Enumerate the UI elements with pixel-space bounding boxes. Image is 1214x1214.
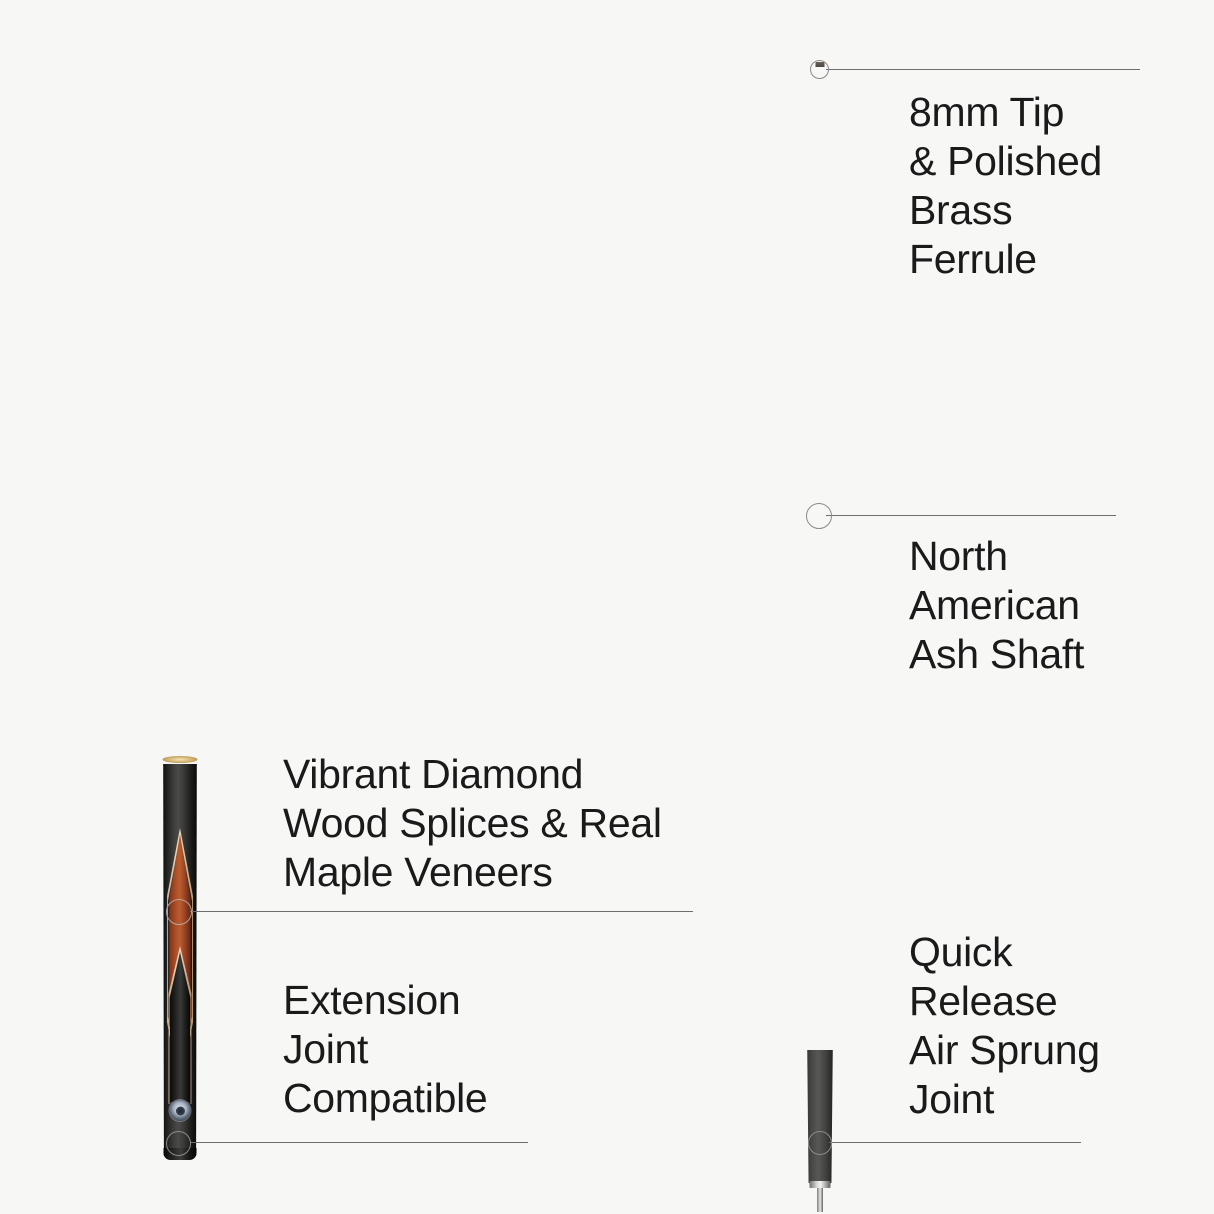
leader-line-extension-joint — [190, 1142, 528, 1143]
cue-joint-collar — [810, 1181, 831, 1188]
annotation-tip-ferrule: 8mm Tip & Polished Brass Ferrule — [909, 88, 1102, 284]
leader-line-quick-release-joint — [829, 1142, 1081, 1143]
product-infographic: 8mm Tip & Polished Brass Ferrule North A… — [0, 0, 1214, 1214]
marker-cue-shaft — [806, 503, 832, 529]
cue-butt-section — [150, 756, 210, 1156]
cue-shaft-section — [795, 62, 845, 1152]
cue-joint-pin — [817, 1188, 823, 1212]
leader-line-ash-shaft — [826, 515, 1116, 516]
leader-line-tip-ferrule — [826, 69, 1140, 70]
marker-butt-end — [166, 1131, 191, 1156]
marker-cue-tip — [810, 60, 829, 79]
cue-ash-shaft — [798, 75, 842, 1050]
annotation-quick-release-joint: Quick Release Air Sprung Joint — [909, 928, 1100, 1124]
marker-butt-splice — [166, 899, 192, 925]
annotation-ash-shaft: North American Ash Shaft — [909, 532, 1084, 679]
brand-badge-icon — [170, 1100, 191, 1121]
annotation-extension-joint: Extension Joint Compatible — [283, 976, 487, 1123]
butt-brass-collar-face — [163, 756, 198, 763]
leader-line-splices-veneers — [190, 911, 693, 912]
marker-cue-joint — [808, 1131, 832, 1155]
annotation-splices-veneers: Vibrant Diamond Wood Splices & Real Mapl… — [283, 750, 662, 897]
